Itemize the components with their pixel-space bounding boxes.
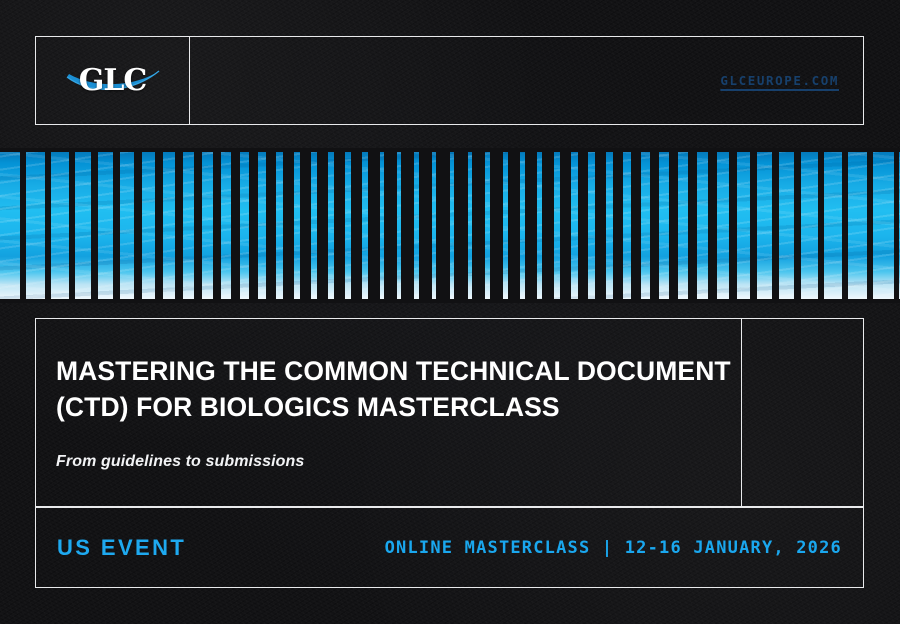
striped-image-band	[0, 148, 900, 303]
band-edge-bottom	[0, 299, 900, 303]
content-frame: MASTERING THE COMMON TECHNICAL DOCUMENT …	[35, 318, 864, 507]
footer-frame: US EVENT ONLINE MASTERCLASS | 12-16 JANU…	[35, 507, 864, 588]
event-meta: ONLINE MASTERCLASS | 12-16 JANUARY, 2026	[385, 538, 842, 558]
band-stripe-mask	[0, 148, 900, 303]
website-url-link[interactable]: GLCEUROPE.COM	[720, 73, 839, 88]
header-frame: GLC GLCEUROPE.COM	[35, 36, 864, 125]
region-tag: US EVENT	[57, 535, 186, 561]
band-edge-top	[0, 148, 900, 152]
header-logo-cell: GLC	[36, 37, 190, 124]
event-poster: GLC GLCEUROPE.COM MASTERING THE COMMON T…	[0, 0, 900, 624]
header-url-cell: GLCEUROPE.COM	[190, 37, 863, 124]
content-left-cell: MASTERING THE COMMON TECHNICAL DOCUMENT …	[36, 319, 742, 506]
content-right-cell	[742, 319, 863, 506]
glc-logo-text: GLC	[79, 66, 147, 96]
glc-logo[interactable]: GLC	[65, 61, 161, 101]
page-title: MASTERING THE COMMON TECHNICAL DOCUMENT …	[56, 353, 741, 426]
page-subtitle: From guidelines to submissions	[56, 453, 741, 471]
